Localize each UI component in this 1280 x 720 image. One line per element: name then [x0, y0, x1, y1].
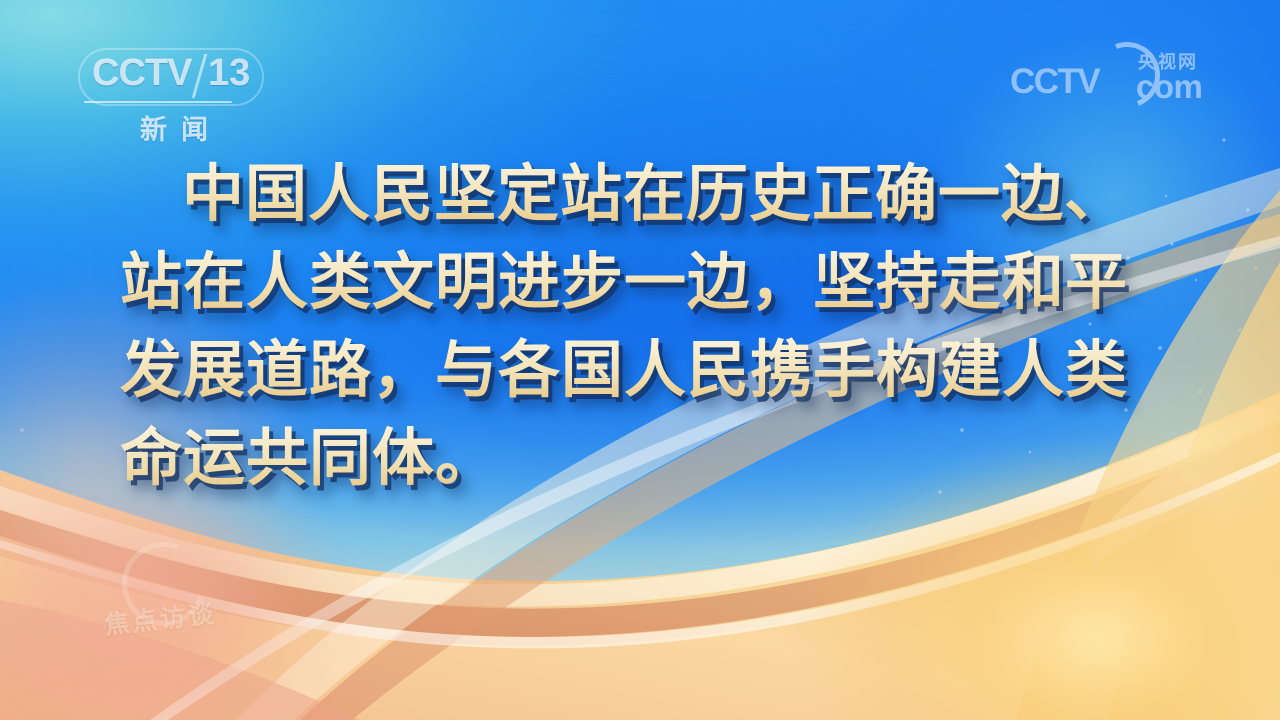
quote-line-2: 站在人类文明进步一边，坚持走和平	[120, 238, 1160, 326]
watermark-domain-text: com	[1136, 68, 1202, 106]
watermark-brand-text: CCTV	[1010, 62, 1099, 102]
logo-cctv-text: CCTV	[92, 52, 191, 95]
logo-channel-number: 13	[208, 52, 250, 95]
cctv-13-logo: CCTV 13 新闻	[78, 48, 264, 136]
cctv-com-watermark: CCTV 央视网 com	[1010, 44, 1220, 106]
logo-underline	[84, 101, 232, 103]
quote-line-4: 命运共同体。	[120, 414, 1160, 502]
quote-line-3: 发展道路，与各国人民携手构建人类	[120, 326, 1160, 414]
quote-block: 中国人民坚定站在历史正确一边、 站在人类文明进步一边，坚持走和平 发展道路，与各…	[0, 150, 1280, 502]
quote-line-1: 中国人民坚定站在历史正确一边、	[120, 150, 1160, 238]
broadcast-quote-card: 焦点访谈 CCTV 13 新闻 CCTV 央视网 com 中国人民坚定站在历史正…	[0, 0, 1280, 720]
logo-subtitle: 新闻	[104, 108, 244, 147]
